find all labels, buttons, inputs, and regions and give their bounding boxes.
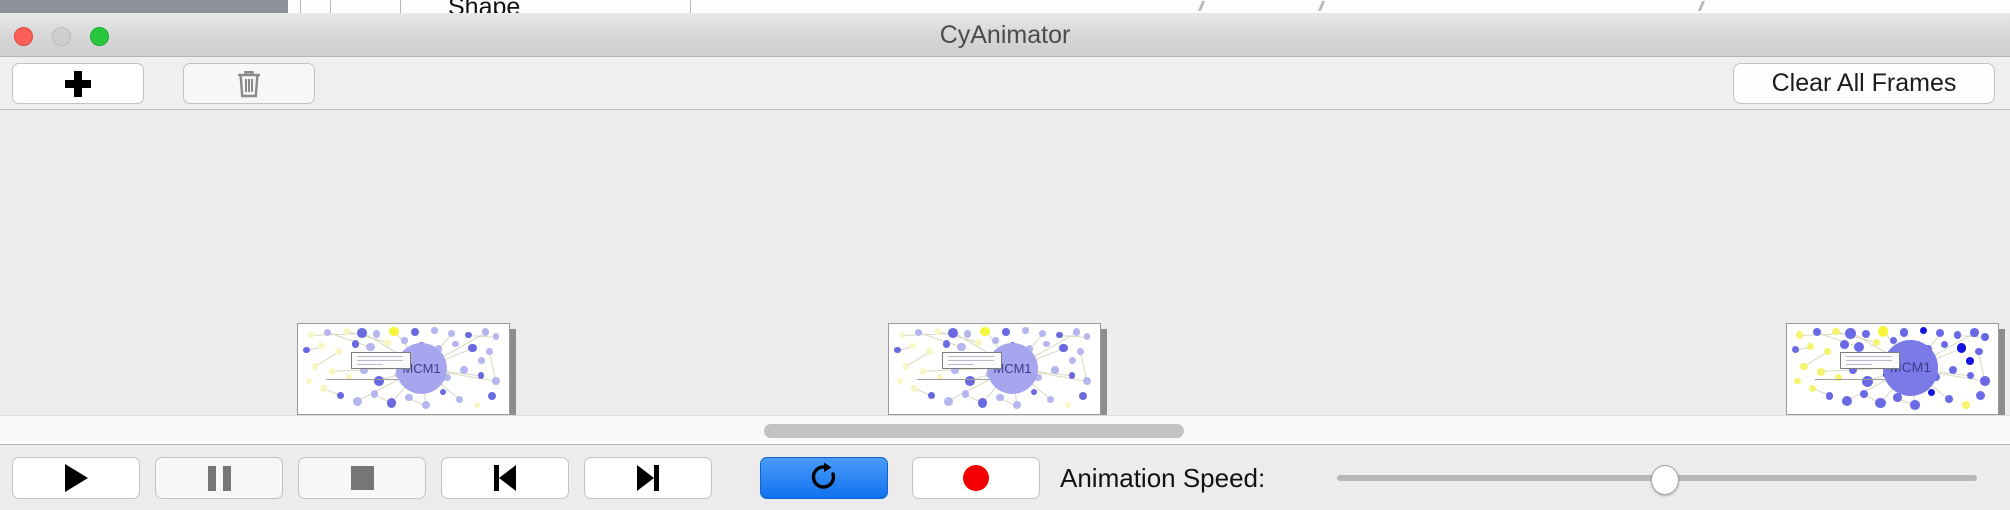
network-node: [1970, 328, 1979, 337]
annotation-text-line: [948, 364, 974, 365]
window-title: CyAnimator: [0, 13, 2010, 57]
network-node: [1980, 376, 1990, 386]
background-windows: Shape: [0, 0, 2010, 14]
network-node: [1941, 341, 1948, 348]
network-node: [1928, 389, 1935, 396]
network-node: [1862, 330, 1870, 338]
frame-network-preview: MCM1: [1786, 323, 1999, 415]
network-node: [1920, 327, 1927, 334]
frame-thumbnail[interactable]: MCM1: [1786, 323, 1999, 415]
network-edge: [1059, 335, 1087, 338]
network-node: [1807, 343, 1814, 350]
network-node: [352, 340, 360, 348]
network-node: [366, 343, 375, 352]
background-panel: [1366, 0, 2010, 14]
loop-icon: [809, 462, 839, 494]
add-frame-button[interactable]: [12, 63, 144, 104]
network-node: [1069, 357, 1076, 364]
background-dark-titlebar: [0, 0, 288, 13]
network-node: [456, 396, 463, 403]
network-node: [303, 347, 309, 353]
network-node: [980, 327, 989, 336]
network-node: [422, 401, 431, 410]
network-node: [1842, 396, 1852, 406]
network-node: [1056, 332, 1062, 338]
background-window-word: Shape: [448, 0, 520, 14]
network-node: [357, 328, 367, 338]
timeline-panel[interactable]: MCM1MCM1MCM1 2131415161718 Seconds: [0, 110, 2010, 415]
frame-caption-line: [1815, 379, 1887, 380]
title-bar: CyAnimator: [0, 13, 2010, 57]
frame-annotation-box: [351, 352, 411, 370]
skip-to-start-button[interactable]: [441, 457, 569, 499]
network-node: [1039, 330, 1046, 337]
network-node: [1013, 401, 1022, 410]
loop-toggle-button[interactable]: [760, 457, 888, 499]
skip-to-start-icon: [494, 465, 516, 491]
network-node: [935, 328, 942, 335]
background-panel: [288, 0, 399, 14]
frame-network-preview: MCM1: [888, 323, 1101, 415]
timeline-scrollbar[interactable]: [0, 415, 2010, 445]
network-node: [1976, 391, 1985, 400]
record-button[interactable]: [912, 457, 1040, 499]
network-node: [1862, 376, 1873, 387]
annotation-text-line: [357, 360, 403, 361]
network-node: [460, 366, 468, 374]
network-node: [1084, 333, 1091, 340]
network-node: [1073, 328, 1081, 336]
frame-annotation-box: [942, 352, 1002, 370]
network-node: [353, 397, 362, 406]
network-node: [903, 363, 909, 369]
network-node: [492, 377, 501, 386]
toolbar: Clear All Frames: [0, 57, 2010, 110]
network-node: [1893, 393, 1902, 402]
network-node: [928, 392, 935, 399]
network-node: [389, 327, 398, 336]
frame-caption-line: [917, 379, 989, 380]
network-node: [387, 398, 396, 407]
network-node: [1936, 329, 1944, 337]
network-node: [943, 340, 951, 348]
network-node: [992, 337, 998, 343]
network-node: [1957, 343, 1967, 353]
network-node: [1047, 396, 1054, 403]
annotation-text-line: [948, 360, 994, 361]
pause-icon: [208, 466, 231, 491]
network-node: [344, 328, 351, 335]
network-node: [306, 378, 312, 384]
network-node: [1845, 328, 1856, 339]
network-node: [957, 343, 966, 352]
plus-icon: [65, 71, 91, 97]
frame-annotation-box: [1840, 352, 1900, 370]
network-node: [431, 327, 437, 333]
network-node: [1854, 342, 1864, 352]
network-node: [1832, 328, 1840, 336]
network-node: [897, 378, 903, 384]
network-node: [1065, 402, 1072, 409]
network-node: [337, 392, 344, 399]
pause-button[interactable]: [155, 457, 283, 499]
network-node: [1794, 378, 1801, 385]
trash-icon: [236, 69, 262, 99]
network-node: [1981, 333, 1989, 341]
network-node: [1059, 344, 1068, 353]
network-node: [894, 347, 900, 353]
network-edge: [468, 335, 496, 338]
network-node: [1792, 346, 1799, 353]
network-node: [909, 343, 915, 349]
network-node: [1975, 348, 1983, 356]
play-button[interactable]: [12, 457, 140, 499]
frame-caption-line: [326, 379, 398, 380]
network-node: [335, 348, 342, 355]
network-node: [474, 402, 481, 409]
network-node: [975, 339, 981, 345]
frame-network-preview: MCM1: [297, 323, 510, 415]
delete-frame-button[interactable]: [183, 63, 315, 104]
network-node: [1800, 363, 1807, 370]
network-node: [964, 330, 971, 337]
network-node: [1083, 377, 1092, 386]
background-panel: [398, 0, 687, 14]
animation-speed-label: Animation Speed:: [1060, 457, 1265, 499]
network-node: [899, 332, 905, 338]
network-node: [482, 328, 490, 336]
slider-thumb[interactable]: [1651, 465, 1679, 495]
playback-control-bar: Animation Speed:: [0, 446, 2010, 510]
play-icon: [65, 464, 88, 492]
network-node: [312, 363, 318, 369]
network-node: [978, 398, 987, 407]
network-node: [1826, 392, 1834, 400]
network-node: [468, 344, 477, 353]
network-node: [1796, 331, 1803, 338]
network-node: [478, 357, 485, 364]
network-node: [320, 385, 326, 391]
network-node: [1051, 366, 1059, 374]
network-node: [1002, 328, 1010, 336]
network-node: [1809, 385, 1816, 392]
network-node: [962, 390, 969, 397]
record-icon: [963, 465, 989, 491]
clear-all-frames-button[interactable]: Clear All Frames: [1733, 63, 1995, 104]
network-node: [965, 376, 975, 386]
network-node: [384, 339, 390, 345]
network-node: [373, 330, 380, 337]
network-node: [996, 394, 1004, 402]
annotation-text-line: [1846, 356, 1892, 357]
network-node: [329, 368, 336, 375]
network-node: [1945, 395, 1953, 403]
network-node: [411, 328, 419, 336]
network-node: [486, 348, 493, 355]
network-node: [944, 397, 953, 406]
annotation-text-line: [357, 356, 403, 357]
network-node: [1860, 390, 1868, 398]
skip-to-end-icon: [637, 465, 659, 491]
network-node: [465, 332, 471, 338]
network-node: [1077, 348, 1084, 355]
network-node: [405, 394, 413, 402]
network-node: [948, 328, 958, 338]
network-node: [440, 389, 446, 395]
network-node: [920, 368, 927, 375]
network-node: [911, 385, 917, 391]
network-node: [1031, 389, 1037, 395]
network-node: [318, 343, 324, 349]
network-node: [1840, 340, 1849, 349]
network-node: [448, 330, 455, 337]
network-node: [478, 372, 484, 378]
network-node: [1022, 327, 1028, 333]
skip-to-end-button[interactable]: [584, 457, 712, 499]
network-node: [488, 392, 496, 400]
frame-thumbnail[interactable]: MCM1: [297, 323, 510, 415]
network-node: [1878, 326, 1888, 336]
network-node: [1967, 372, 1974, 379]
network-node: [374, 376, 384, 386]
network-node: [371, 390, 378, 397]
network-node: [1910, 400, 1920, 410]
network-node: [401, 337, 407, 343]
frame-thumbnail[interactable]: MCM1: [888, 323, 1101, 415]
cyanimator-window: Shape CyAnimator Clear All Frames MCM1MC…: [0, 0, 2010, 510]
network-node: [308, 332, 314, 338]
network-node: [926, 348, 933, 355]
network-node: [1079, 392, 1087, 400]
scrollbar-thumb[interactable]: [764, 424, 1184, 438]
network-node: [1954, 331, 1961, 338]
animation-speed-slider[interactable]: [1337, 457, 1977, 499]
annotation-text-line: [948, 356, 994, 357]
network-node: [1069, 372, 1075, 378]
network-node: [1900, 328, 1909, 337]
background-panel: [686, 0, 1367, 14]
clear-all-frames-label: Clear All Frames: [1772, 69, 1957, 98]
network-node: [1817, 368, 1825, 376]
annotation-text-line: [1846, 364, 1872, 365]
network-node: [1962, 401, 1970, 409]
stop-button[interactable]: [298, 457, 426, 499]
network-node: [1966, 357, 1974, 365]
stop-icon: [351, 466, 374, 490]
annotation-text-line: [1846, 360, 1892, 361]
network-node: [1824, 348, 1832, 356]
network-node: [1875, 398, 1885, 408]
annotation-text-line: [357, 364, 383, 365]
network-node: [493, 333, 500, 340]
network-node: [1873, 339, 1880, 346]
